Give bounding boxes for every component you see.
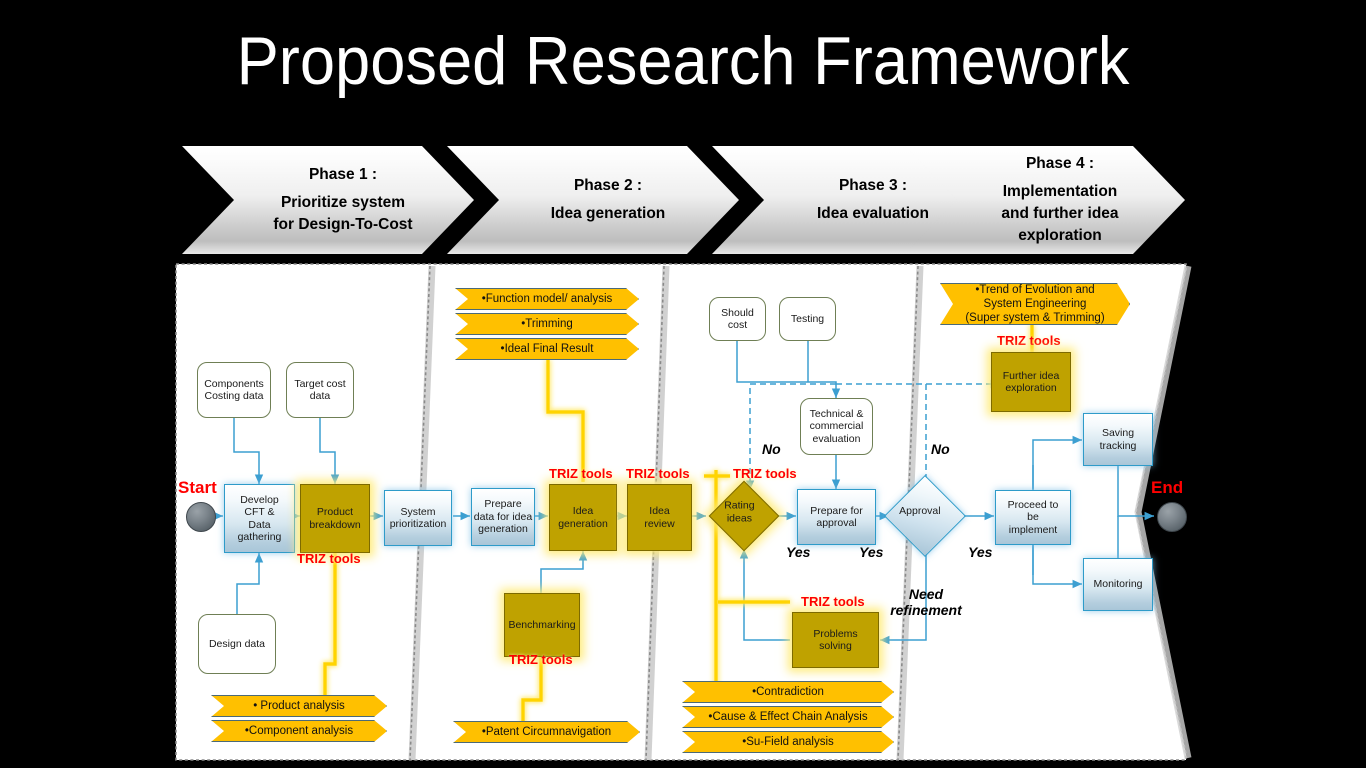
decision-rating-ideas-label: Rating ideas	[710, 499, 770, 524]
pennant-trimming[interactable]: •Trimming	[455, 313, 639, 335]
data-design[interactable]: Design data	[198, 614, 276, 674]
pennant-trend-of-evolution-label: •Trend of Evolution and System Engineeri…	[965, 283, 1104, 325]
phase-4-name-line1: Implementation	[1003, 181, 1118, 203]
start-terminal[interactable]	[186, 502, 216, 532]
pennant-cause-effect-chain[interactable]: •Cause & Effect Chain Analysis	[682, 706, 894, 728]
pennant-cause-effect-chain-label: •Cause & Effect Chain Analysis	[708, 711, 867, 724]
data-testing-label: Testing	[791, 313, 824, 326]
flag-need-refinement: Need refinement	[886, 586, 966, 618]
phase-banner-1[interactable]: Phase 1 : Prioritize system for Design-T…	[182, 146, 474, 254]
start-label: Start	[178, 478, 217, 498]
end-label: End	[1151, 478, 1183, 498]
data-target-cost[interactable]: Target cost data	[286, 362, 354, 418]
triz-product-breakdown-label: Product breakdown	[309, 506, 360, 531]
pennant-product-analysis-label: • Product analysis	[253, 700, 345, 713]
process-prepare-for-approval[interactable]: Prepare for approval	[797, 489, 876, 545]
triz-further-idea-exploration-label: Further idea exploration	[1003, 370, 1060, 395]
phase-1-name-line2: for Design-To-Cost	[273, 214, 412, 236]
page-title: Proposed Research Framework	[48, 22, 1318, 100]
flag-no-left: No	[762, 441, 781, 457]
phase-2-name-line1: Idea generation	[551, 203, 666, 225]
triz-caption-idea-review: TRIZ tools	[626, 466, 690, 481]
phase-4-name-line3: exploration	[1018, 225, 1102, 247]
data-testing[interactable]: Testing	[779, 297, 836, 341]
triz-problems-solving[interactable]: Problems solving	[792, 612, 879, 668]
triz-caption-further-idea: TRIZ tools	[997, 333, 1061, 348]
process-prepare-data[interactable]: Prepare data for idea generation	[471, 488, 535, 546]
pennant-function-model[interactable]: •Function model/ analysis	[455, 288, 639, 310]
phase-3-number: Phase 3 :	[839, 175, 907, 197]
process-prepare-data-label: Prepare data for idea generation	[474, 498, 532, 536]
end-terminal[interactable]	[1157, 502, 1187, 532]
pennant-patent-circumnavigation-label: •Patent Circumnavigation	[482, 726, 611, 739]
data-design-label: Design data	[209, 638, 265, 651]
triz-idea-review[interactable]: Idea review	[627, 484, 692, 551]
triz-product-breakdown[interactable]: Product breakdown	[300, 484, 370, 553]
pennant-product-analysis[interactable]: • Product analysis	[211, 695, 387, 717]
flag-yes-3: Yes	[968, 544, 992, 560]
process-proceed-to-implement[interactable]: Proceed to be implement	[995, 490, 1071, 545]
process-monitoring-label: Monitoring	[1093, 578, 1142, 591]
triz-caption-idea-generation: TRIZ tools	[549, 466, 613, 481]
phase-2-number: Phase 2 :	[574, 175, 642, 197]
phase-1-number: Phase 1 :	[309, 164, 377, 186]
pennant-contradiction[interactable]: •Contradiction	[682, 681, 894, 703]
triz-further-idea-exploration[interactable]: Further idea exploration	[991, 352, 1071, 412]
data-components-costing-label: Components Costing data	[204, 378, 264, 403]
triz-idea-generation-label: Idea generation	[558, 505, 608, 530]
process-saving-tracking-label: Saving tracking	[1100, 427, 1137, 452]
process-system-prioritization[interactable]: System prioritization	[384, 490, 452, 546]
data-technical-commercial-evaluation[interactable]: Technical & commercial evaluation	[800, 398, 873, 455]
triz-problems-solving-label: Problems solving	[813, 628, 857, 653]
triz-idea-review-label: Idea review	[644, 505, 674, 530]
process-saving-tracking[interactable]: Saving tracking	[1083, 413, 1153, 466]
data-should-cost-label: Should cost	[721, 307, 754, 332]
triz-caption-benchmarking: TRIZ tools	[509, 652, 573, 667]
triz-benchmarking-label: Benchmarking	[508, 619, 575, 632]
pennant-trend-of-evolution[interactable]: •Trend of Evolution and System Engineeri…	[940, 283, 1130, 325]
pennant-trimming-label: •Trimming	[521, 318, 573, 331]
phase-3-name-line1: Idea evaluation	[817, 203, 929, 225]
pennant-su-field-analysis-label: •Su-Field analysis	[742, 736, 834, 749]
data-components-costing[interactable]: Components Costing data	[197, 362, 271, 418]
pennant-contradiction-label: •Contradiction	[752, 686, 824, 699]
pennant-component-analysis-label: •Component analysis	[245, 725, 353, 738]
triz-idea-generation[interactable]: Idea generation	[549, 484, 617, 551]
data-target-cost-label: Target cost data	[294, 378, 345, 403]
data-should-cost[interactable]: Should cost	[709, 297, 766, 341]
process-proceed-to-implement-label: Proceed to be implement	[1008, 499, 1059, 537]
data-technical-commercial-evaluation-label: Technical & commercial evaluation	[810, 408, 864, 446]
decision-approval-label: Approval	[885, 505, 955, 517]
pennant-function-model-label: •Function model/ analysis	[482, 293, 613, 306]
pennant-ideal-final-result-label: •Ideal Final Result	[501, 343, 594, 356]
process-system-prioritization-label: System prioritization	[390, 506, 447, 531]
phase-4-number: Phase 4 :	[1026, 153, 1094, 175]
process-develop-cft-label: Develop CFT & Data gathering	[238, 494, 282, 544]
pennant-patent-circumnavigation[interactable]: •Patent Circumnavigation	[453, 721, 640, 743]
process-prepare-for-approval-label: Prepare for approval	[810, 505, 863, 530]
pennant-component-analysis[interactable]: •Component analysis	[211, 720, 387, 742]
pennant-su-field-analysis[interactable]: •Su-Field analysis	[682, 731, 894, 753]
triz-benchmarking[interactable]: Benchmarking	[504, 593, 580, 657]
phase-banner-2[interactable]: Phase 2 : Idea generation	[447, 146, 739, 254]
phase-1-name-line1: Prioritize system	[281, 192, 405, 214]
flag-yes-1: Yes	[786, 544, 810, 560]
flag-yes-2: Yes	[859, 544, 883, 560]
triz-caption-rating-ideas: TRIZ tools	[733, 466, 797, 481]
flag-no-right: No	[931, 441, 950, 457]
slide-canvas: Proposed Research Framework Phase 1 : Pr…	[0, 0, 1366, 768]
triz-caption-problems-solving: TRIZ tools	[801, 594, 865, 609]
triz-caption-product-breakdown: TRIZ tools	[297, 551, 361, 566]
pennant-ideal-final-result[interactable]: •Ideal Final Result	[455, 338, 639, 360]
process-monitoring[interactable]: Monitoring	[1083, 558, 1153, 611]
process-develop-cft[interactable]: Develop CFT & Data gathering	[224, 484, 295, 553]
phase-4-name-line2: and further idea	[1001, 203, 1118, 225]
